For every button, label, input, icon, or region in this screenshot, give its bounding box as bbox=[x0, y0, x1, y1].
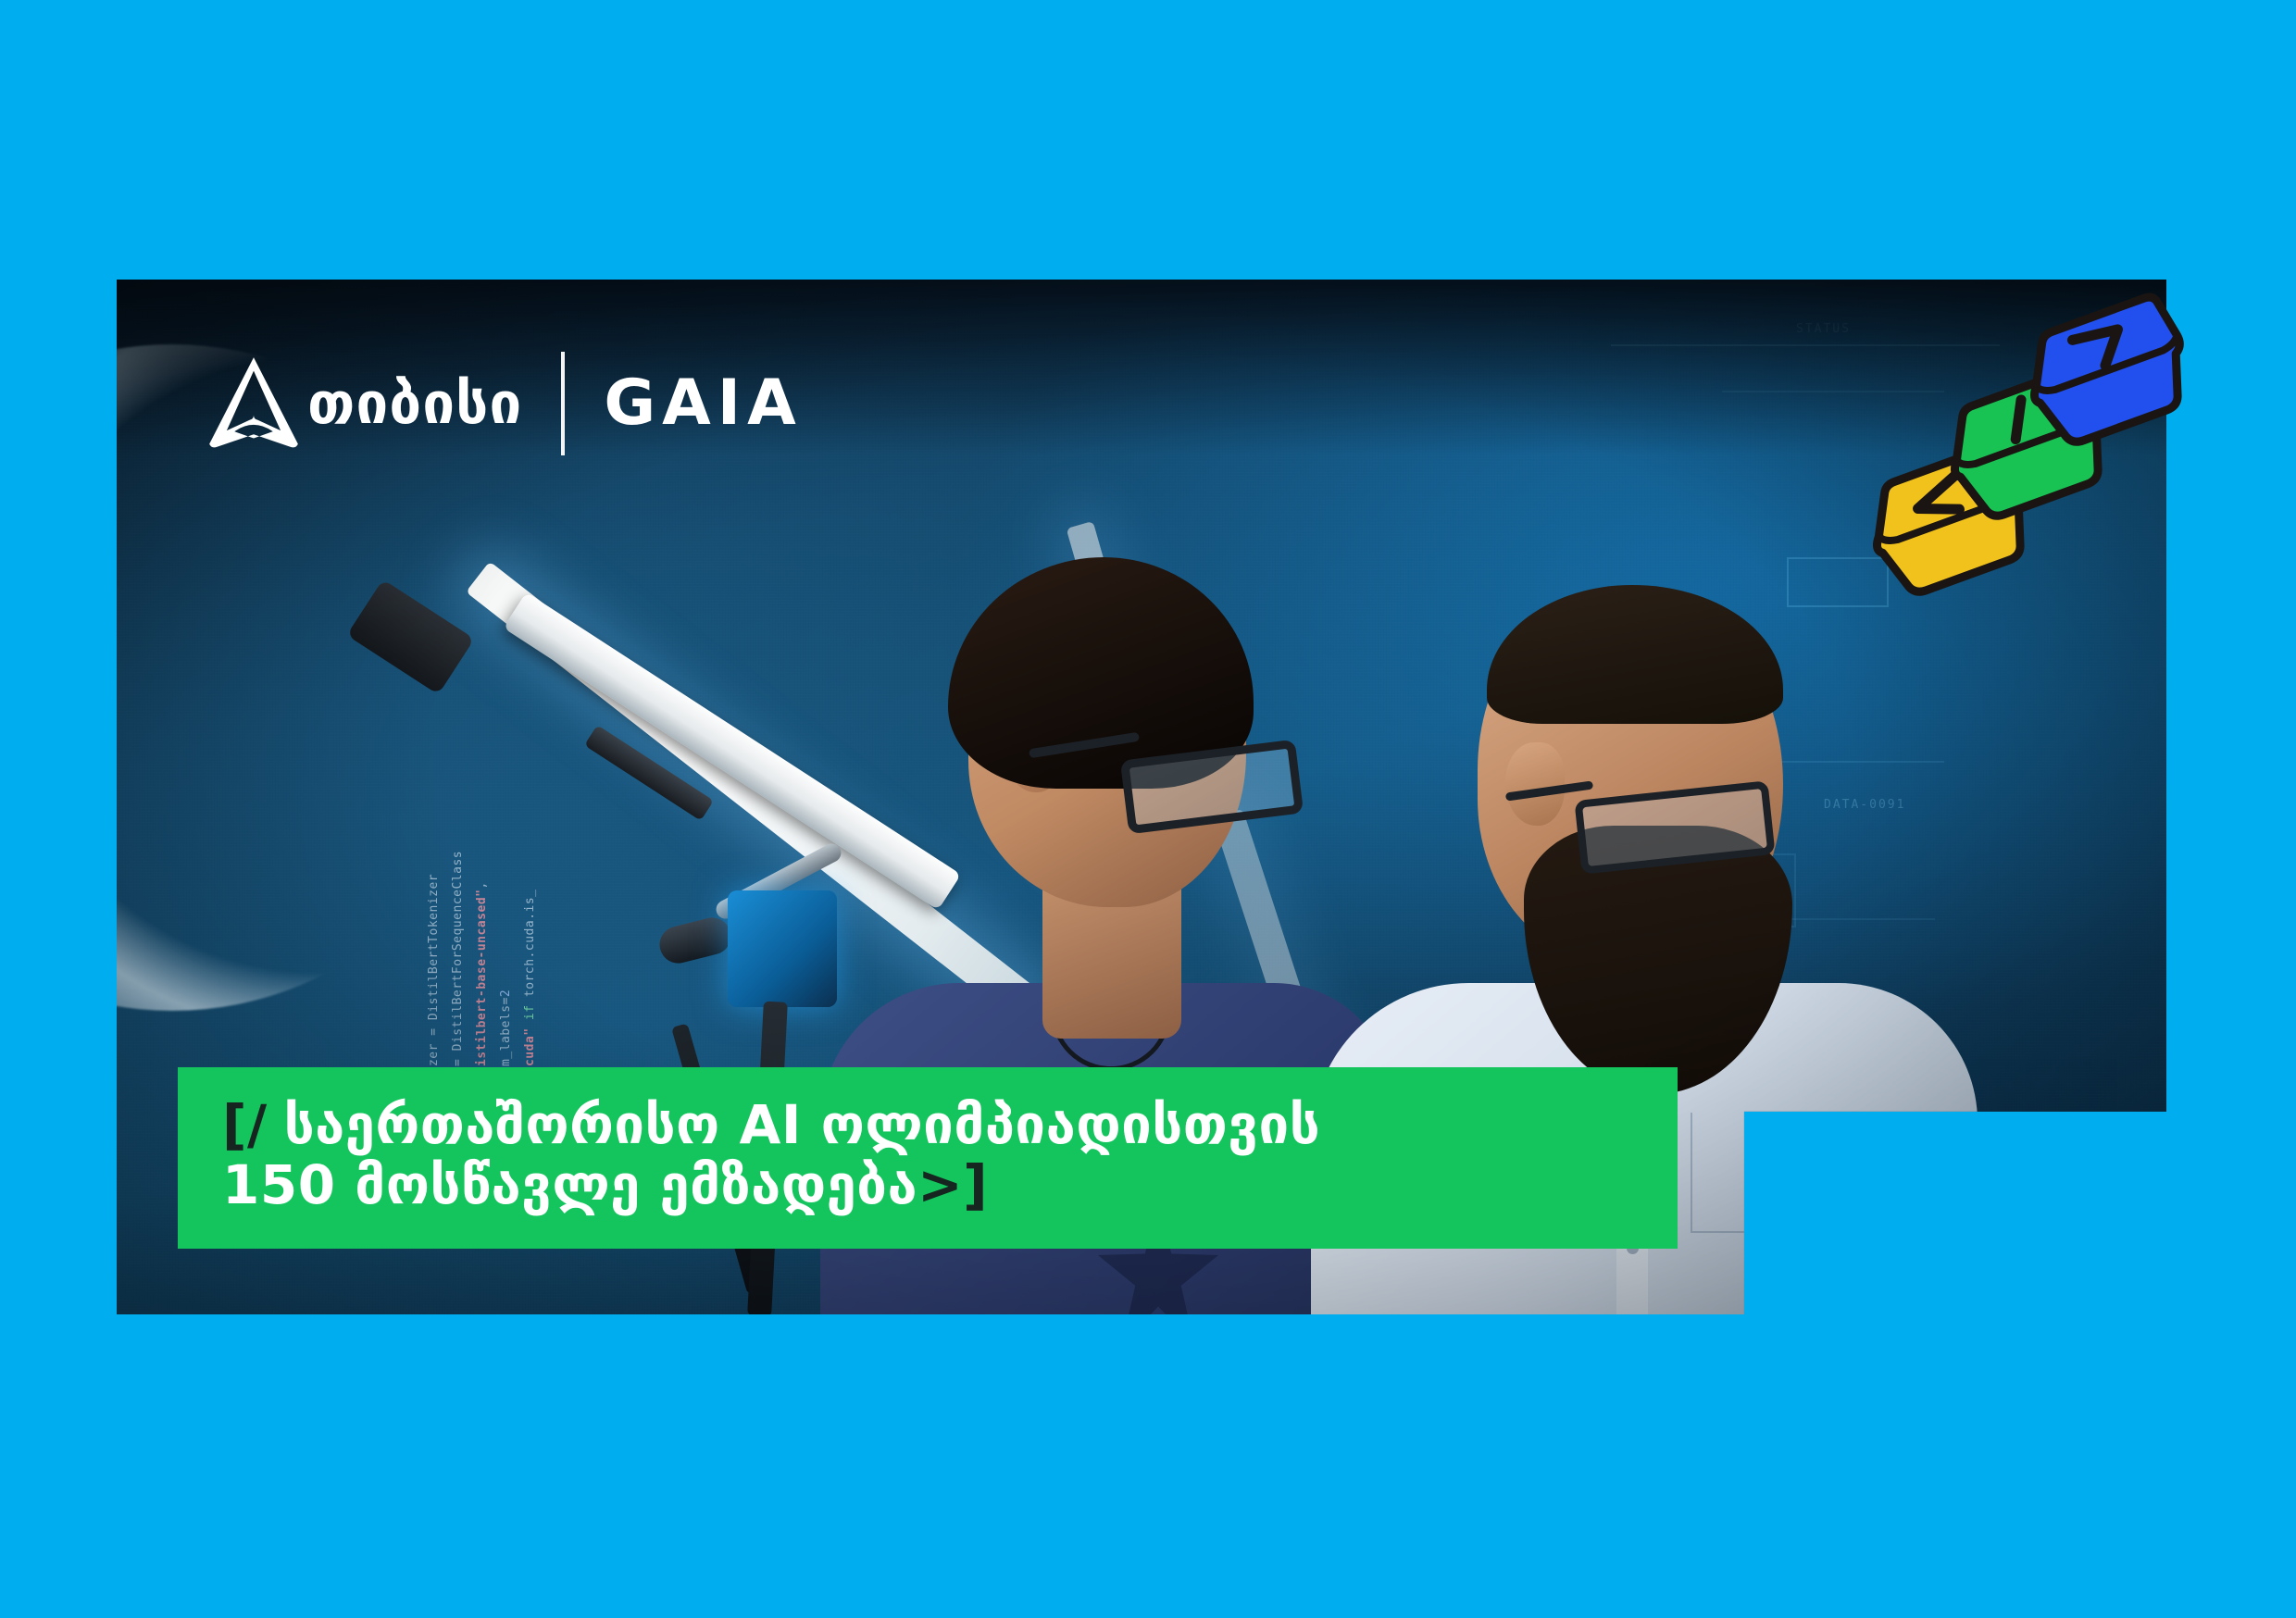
gaia-wordmark[interactable]: GAIA bbox=[604, 372, 802, 435]
laptop-logo-icon bbox=[2028, 1230, 2077, 1299]
headline-line-1: საერთაშორისო AI ოლიმპიადისთვის bbox=[284, 1093, 1320, 1156]
mentor-typing-hand bbox=[1891, 1254, 2148, 1314]
headline-open-bracket: [/ bbox=[222, 1093, 268, 1156]
tbc-logo[interactable]: თიბისი bbox=[206, 355, 522, 452]
headline-close-bracket: >] bbox=[917, 1153, 988, 1216]
brand-lockup: თიბისი GAIA bbox=[206, 352, 803, 455]
lockup-divider bbox=[561, 352, 565, 455]
headline-line-2: 150 მოსწავლე ემზადება bbox=[222, 1153, 917, 1216]
banner-stage: STATUS SCAN DATA-0091 SYS 00 ONLINE 01 S… bbox=[0, 0, 2296, 1618]
mentor-left-hand bbox=[1792, 1311, 1987, 1314]
laptop-lid bbox=[1902, 1139, 2166, 1314]
tbc-wordmark: თიბისი bbox=[307, 375, 522, 432]
mentor-forearm bbox=[1719, 1168, 2079, 1314]
headline-text-block: [/საერთაშორისო AI ოლიმპიადისთვის 150 მოს… bbox=[178, 1095, 1320, 1221]
tbc-triangle-icon bbox=[206, 355, 302, 452]
keycaps-group bbox=[1852, 326, 2222, 659]
headline-banner: [/საერთაშორისო AI ოლიმპიადისთვის 150 მოს… bbox=[178, 1067, 1678, 1249]
